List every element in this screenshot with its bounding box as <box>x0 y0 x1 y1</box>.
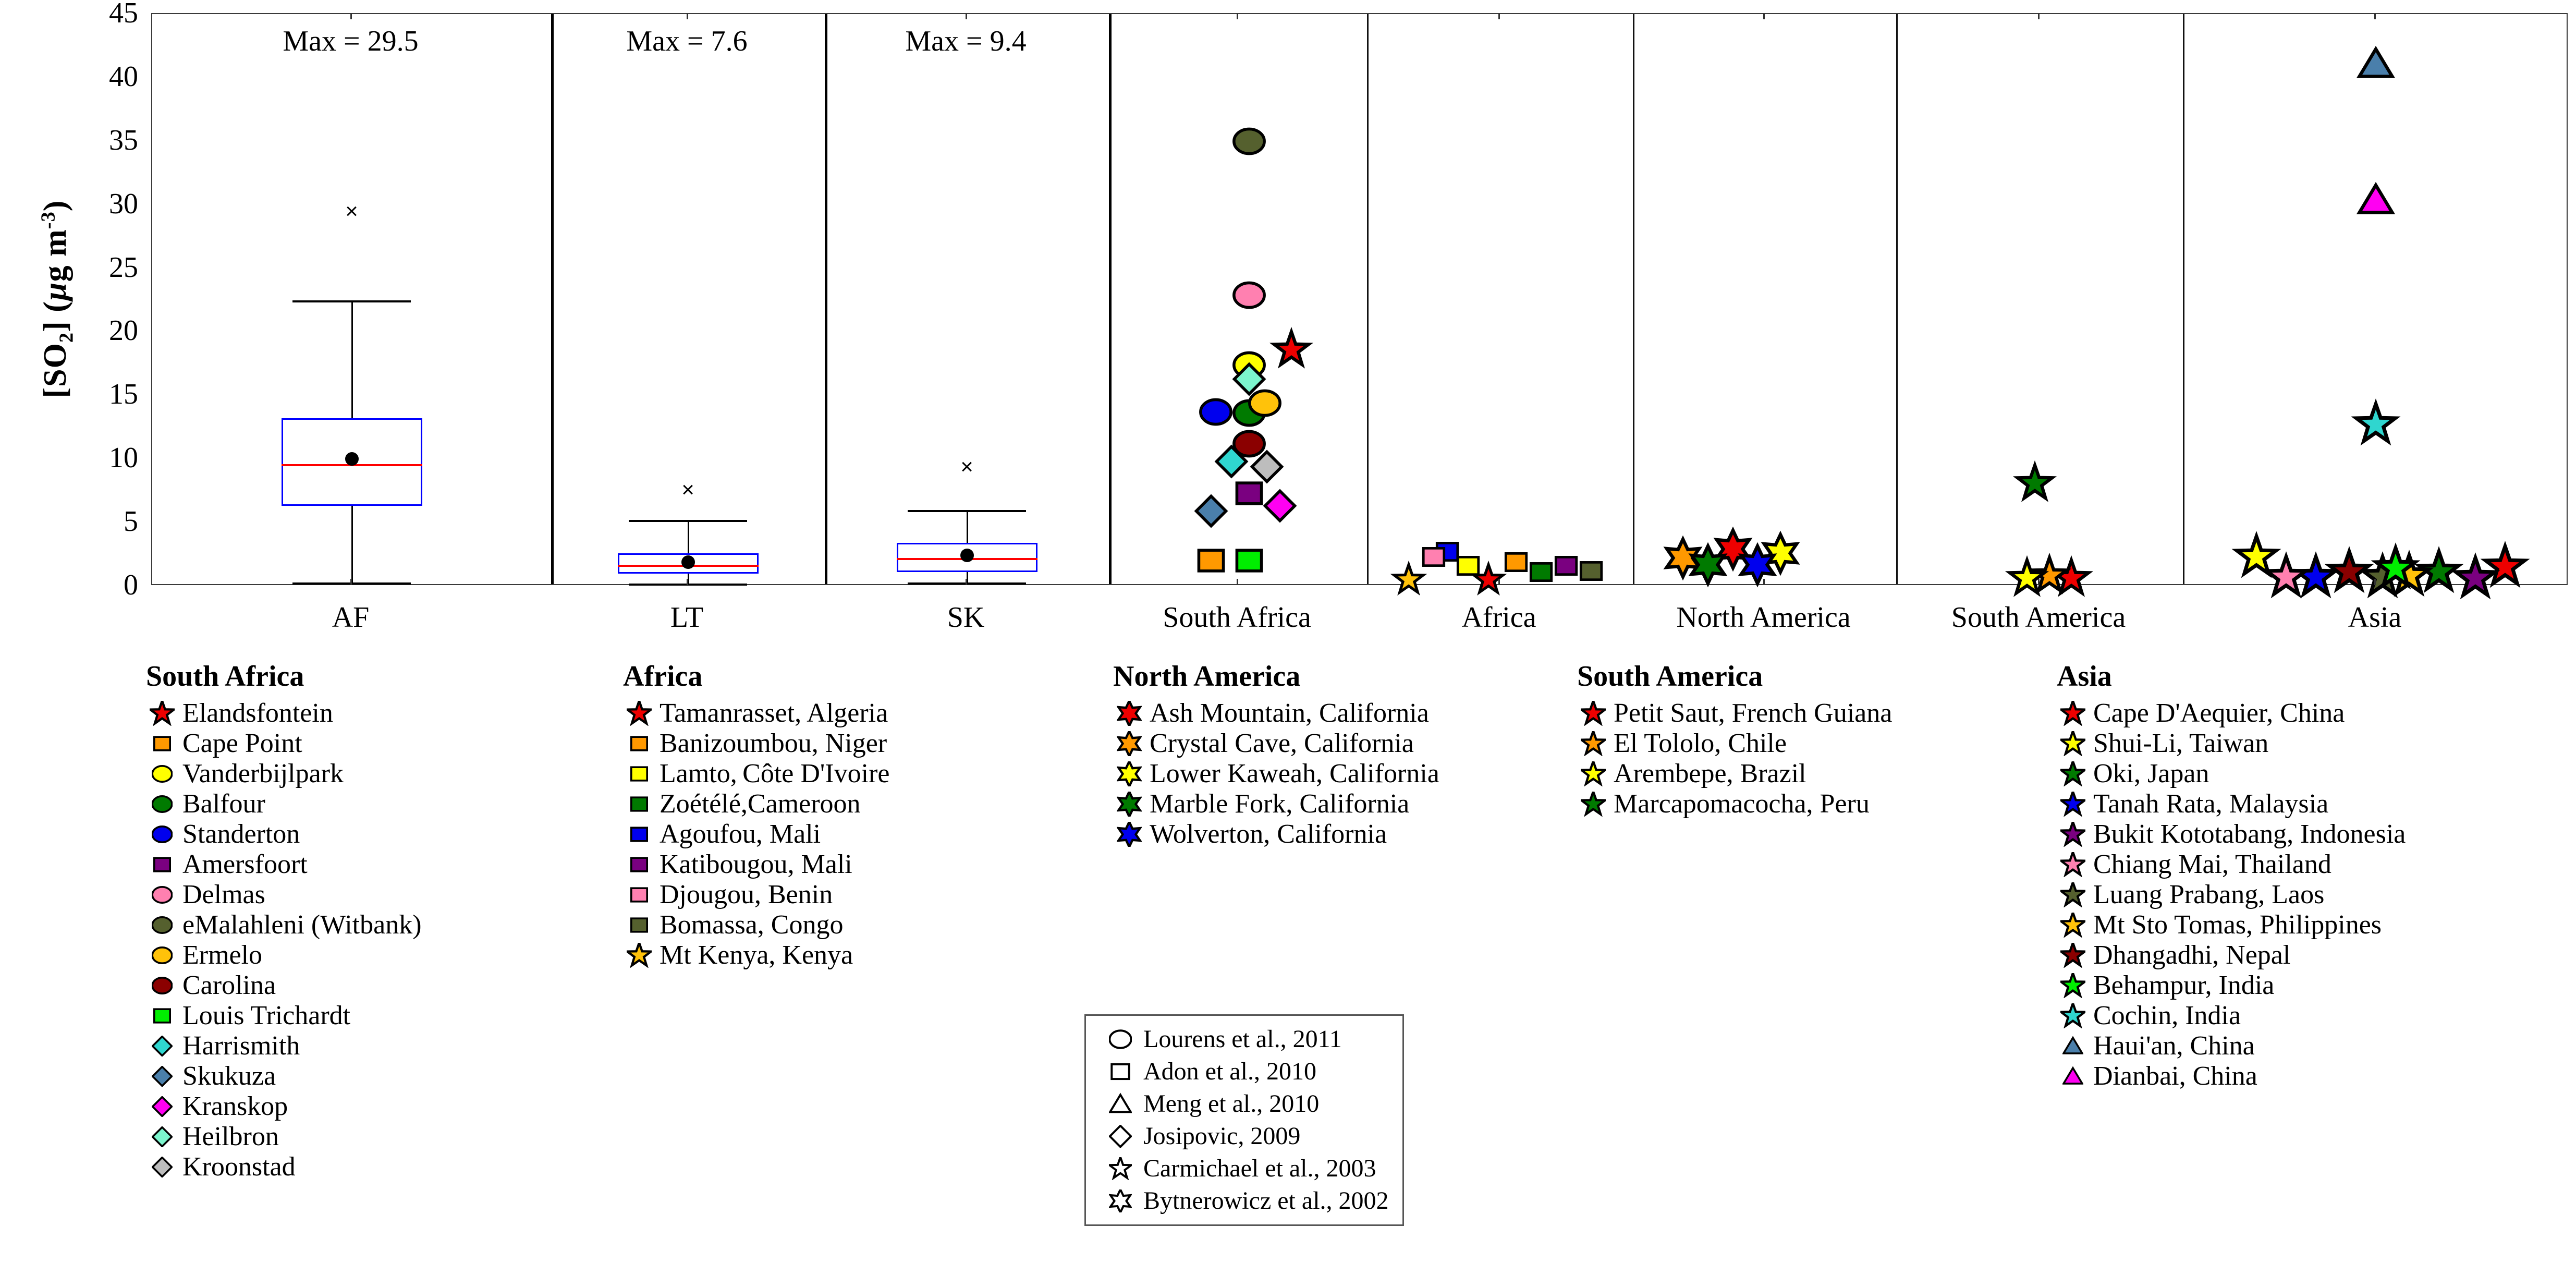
data-point-marker <box>1273 332 1309 368</box>
x-axis-label-south-africa: South Africa <box>1163 601 1311 634</box>
y-tick-label: 15 <box>60 380 138 409</box>
data-point-marker <box>1578 557 1605 585</box>
legend-item[interactable]: Djougou, Benin <box>623 880 889 910</box>
legend-title: North America <box>1113 660 1439 693</box>
star6-icon <box>1113 822 1145 847</box>
data-point-marker <box>2017 465 2053 501</box>
legend-item-label: Delmas <box>182 881 265 908</box>
legend-title: South America <box>1577 660 1892 693</box>
legend-item[interactable]: Heilbron <box>146 1122 422 1152</box>
legend-item[interactable]: Amersfoort <box>146 849 422 880</box>
legend-item-label: Heilbron <box>182 1123 279 1150</box>
legend-item[interactable]: Luang Prabang, Laos <box>2057 880 2406 910</box>
x-tick-mark-top <box>2374 13 2376 19</box>
y-tick-label: 5 <box>60 507 138 536</box>
x-tick-mark-top <box>2038 13 2040 19</box>
outlier-marker: × <box>960 456 973 478</box>
legend-item[interactable]: eMalahleni (Witbank) <box>146 910 422 940</box>
legend-item-label: Wolverton, California <box>1150 821 1387 848</box>
reference-legend-item[interactable]: Adon et al., 2010 <box>1102 1055 1389 1088</box>
mean-marker <box>960 549 974 562</box>
star5-icon <box>1577 701 1609 726</box>
square-icon <box>623 794 655 815</box>
x-axis-label-lt: LT <box>670 601 703 634</box>
data-point-marker <box>1215 445 1248 478</box>
data-point-marker <box>2455 558 2496 599</box>
data-point-marker <box>1251 451 1283 483</box>
data-point-marker <box>1503 549 1530 576</box>
star5-icon <box>623 943 655 968</box>
legend-item[interactable]: Marcapomacocha, Peru <box>1577 789 1892 819</box>
star5-icon <box>1102 1157 1139 1180</box>
data-point-marker <box>1233 279 1265 311</box>
diamond-icon <box>146 1126 178 1147</box>
diamond-icon <box>146 1096 178 1117</box>
so2-concentration-figure: [SO2] (µg m-3)051015202530354045×××AFLTS… <box>0 0 2576 1287</box>
legend-item-label: Bomassa, Congo <box>660 912 843 939</box>
legend-title: Africa <box>623 660 889 693</box>
legend-item-label: Cochin, India <box>2093 1002 2241 1029</box>
reference-legend-item[interactable]: Lourens et al., 2011 <box>1102 1023 1389 1055</box>
legend-item[interactable]: Delmas <box>146 880 422 910</box>
legend-item[interactable]: Agoufou, Mali <box>623 819 889 849</box>
legend-item-label: Arembepe, Brazil <box>1614 760 1806 787</box>
max-annotation: Max = 9.4 <box>905 25 1026 58</box>
circle-icon <box>146 945 178 966</box>
data-point-marker <box>1233 125 1265 157</box>
legend-item[interactable]: Cape D'Aequier, China <box>2057 698 2406 729</box>
legend-item-label: Oki, Japan <box>2093 760 2209 787</box>
data-point-marker <box>1420 543 1447 570</box>
legend-item-label: Ermelo <box>182 942 262 969</box>
x-axis-label-africa: Africa <box>1461 601 1536 634</box>
legend-item-label: Lower Kaweah, California <box>1150 760 1439 787</box>
x-tick-mark <box>2374 579 2376 585</box>
square-icon <box>623 824 655 845</box>
star5-icon <box>2057 822 2089 847</box>
legend-item[interactable]: Haui'an, China <box>2057 1031 2406 1061</box>
legend-column-south-africa: South AfricaElandsfonteinCape PointVande… <box>146 660 422 1182</box>
legend-item[interactable]: Ash Mountain, California <box>1113 698 1439 729</box>
legend-item-label: Marcapomacocha, Peru <box>1614 791 1870 818</box>
legend-item-label: Katibougou, Mali <box>660 851 852 878</box>
legend-item[interactable]: Cochin, India <box>2057 1001 2406 1031</box>
x-axis-label-sk: SK <box>947 601 985 634</box>
legend-item-label: Bukit Kototabang, Indonesia <box>2093 821 2406 848</box>
legend-item-label: Elandsfontein <box>182 700 333 727</box>
x-axis-label-south-america: South America <box>1951 601 2126 634</box>
legend-item-label: Behampur, India <box>2093 972 2274 999</box>
legend-item[interactable]: Cape Point <box>146 729 422 759</box>
reference-legend-item[interactable]: Meng et al., 2010 <box>1102 1088 1389 1120</box>
star5-icon <box>2057 852 2089 877</box>
legend-title: Asia <box>2057 660 2406 693</box>
legend-item-label: Tamanrasset, Algeria <box>660 700 888 727</box>
square-icon <box>1102 1060 1139 1083</box>
star6-icon <box>1113 731 1145 756</box>
star5-icon <box>2057 1003 2089 1028</box>
legend-item-label: Luang Prabang, Laos <box>2093 881 2324 908</box>
triangle-icon <box>2057 1036 2089 1057</box>
x-tick-mark <box>687 579 688 585</box>
x-axis-label-north-america: North America <box>1676 601 1850 634</box>
plot-area: ××× <box>151 13 2568 585</box>
whisker-upper <box>967 510 968 543</box>
x-axis-label-asia: Asia <box>2348 601 2402 634</box>
legend-item[interactable]: Petit Saut, French Guiana <box>1577 698 1892 729</box>
legend-item[interactable]: Carolina <box>146 970 422 1001</box>
legend-item-label: Harrismith <box>182 1033 300 1060</box>
legend-item[interactable]: Oki, Japan <box>2057 759 2406 789</box>
y-tick-label: 40 <box>60 62 138 91</box>
data-point-marker <box>1200 396 1232 428</box>
legend-item[interactable]: Zoétélé,Cameroon <box>623 789 889 819</box>
data-point-marker <box>1264 490 1296 522</box>
legend-column-north-america: North AmericaAsh Mountain, CaliforniaCry… <box>1113 660 1439 849</box>
circle-icon <box>1102 1028 1139 1051</box>
legend-item-label: Kroonstad <box>182 1154 296 1181</box>
circle-icon <box>146 884 178 905</box>
star5-icon <box>2057 761 2089 786</box>
legend-item-label: Cape D'Aequier, China <box>2093 700 2345 727</box>
x-tick-mark-top <box>687 13 688 19</box>
square-icon <box>146 854 178 875</box>
circle-icon <box>146 763 178 784</box>
legend-item-label: Dianbai, China <box>2093 1063 2257 1090</box>
y-tick-label: 10 <box>60 443 138 472</box>
legend-item-label: Vanderbijlpark <box>182 760 344 787</box>
star5-icon <box>2057 701 2089 726</box>
square-icon <box>623 733 655 754</box>
reference-legend-label: Meng et al., 2010 <box>1143 1091 1319 1116</box>
reference-legend-item[interactable]: Josipovic, 2009 <box>1102 1120 1389 1152</box>
legend-item-label: Kranskop <box>182 1093 288 1120</box>
legend-column-south-america: South AmericaPetit Saut, French GuianaEl… <box>1577 660 1892 819</box>
y-tick-label: 45 <box>60 0 138 28</box>
legend-item-label: El Tololo, Chile <box>1614 730 1787 757</box>
y-tick-label: 0 <box>60 570 138 600</box>
legend-item-label: Chiang Mai, Thailand <box>2093 851 2331 878</box>
star6-icon <box>1102 1189 1139 1212</box>
legend-item-label: Skukuza <box>182 1063 276 1090</box>
legend-item[interactable]: Lamto, Côte D'Ivoire <box>623 759 889 789</box>
data-point-marker <box>1233 363 1265 395</box>
legend-item[interactable]: Banizoumbou, Niger <box>623 729 889 759</box>
x-tick-mark-top <box>966 13 967 19</box>
data-point-marker <box>1689 546 1727 584</box>
data-point-marker <box>1739 546 1777 584</box>
legend-item[interactable]: Vanderbijlpark <box>146 759 422 789</box>
legend-item-label: Marble Fork, California <box>1150 791 1409 818</box>
legend-item[interactable]: Wolverton, California <box>1113 819 1439 849</box>
legend-item-label: Balfour <box>182 791 265 818</box>
legend-item[interactable]: Skukuza <box>146 1061 422 1091</box>
data-point-marker <box>2355 404 2396 445</box>
star5-icon <box>146 701 178 726</box>
star5-icon <box>2057 731 2089 756</box>
diamond-icon <box>146 1066 178 1087</box>
reference-legend-label: Carmichael et al., 2003 <box>1143 1156 1376 1181</box>
star5-icon <box>2057 943 2089 968</box>
reference-legend-item[interactable]: Carmichael et al., 2003 <box>1102 1152 1389 1185</box>
legend-item[interactable]: Dhangadhi, Nepal <box>2057 940 2406 970</box>
legend-item-label: Zoétélé,Cameroon <box>660 791 861 818</box>
y-tick-label: 35 <box>60 126 138 155</box>
star6-icon <box>1113 701 1145 726</box>
circle-icon <box>146 915 178 936</box>
x-tick-mark <box>1498 579 1500 585</box>
legend-item[interactable]: Dianbai, China <box>2057 1061 2406 1091</box>
legend-item[interactable]: Arembepe, Brazil <box>1577 759 1892 789</box>
legend-item-label: Ash Mountain, California <box>1150 700 1429 727</box>
legend-item-label: Mt Kenya, Kenya <box>660 942 853 969</box>
diamond-icon <box>146 1036 178 1057</box>
data-point-marker <box>1195 495 1227 527</box>
star5-icon <box>623 701 655 726</box>
legend-item[interactable]: Lower Kaweah, California <box>1113 759 1439 789</box>
x-tick-mark <box>966 579 967 585</box>
reference-legend-label: Bytnerowicz et al., 2002 <box>1143 1188 1389 1213</box>
legend-item[interactable]: Ermelo <box>146 940 422 970</box>
y-tick-label: 20 <box>60 316 138 345</box>
legend-item[interactable]: Balfour <box>146 789 422 819</box>
legend-item-label: eMalahleni (Witbank) <box>182 912 422 939</box>
data-point-marker <box>1393 565 1423 595</box>
legend-item[interactable]: Chiang Mai, Thailand <box>2057 849 2406 880</box>
star5-icon <box>2057 792 2089 817</box>
legend-item[interactable]: Marble Fork, California <box>1113 789 1439 819</box>
legend-item[interactable]: Kranskop <box>146 1091 422 1122</box>
data-point-marker <box>1233 544 1265 577</box>
data-point-marker <box>2329 552 2370 592</box>
data-point-marker <box>2358 181 2394 218</box>
data-point-marker <box>2358 45 2394 82</box>
square-icon <box>623 854 655 875</box>
legend-item[interactable]: Shui-Li, Taiwan <box>2057 729 2406 759</box>
legend-column-africa: AfricaTamanrasset, AlgeriaBanizoumbou, N… <box>623 660 889 970</box>
data-point-marker <box>2375 548 2416 589</box>
x-axis-label-af: AF <box>332 601 370 634</box>
legend-item[interactable]: Elandsfontein <box>146 698 422 729</box>
star6-icon <box>1113 761 1145 786</box>
legend-item[interactable]: Crystal Cave, California <box>1113 729 1439 759</box>
max-annotation: Max = 29.5 <box>283 25 418 58</box>
data-point-marker <box>1528 558 1555 586</box>
legend-item[interactable]: El Tololo, Chile <box>1577 729 1892 759</box>
legend-item-label: Petit Saut, French Guiana <box>1614 700 1892 727</box>
square-icon <box>146 1005 178 1026</box>
data-point-marker <box>1553 552 1580 579</box>
legend-item-label: Djougou, Benin <box>660 881 833 908</box>
legend-item-label: Tanah Rata, Malaysia <box>2093 791 2328 818</box>
reference-legend-label: Josipovic, 2009 <box>1143 1124 1300 1149</box>
legend-item-label: Crystal Cave, California <box>1150 730 1414 757</box>
legend-item[interactable]: Tamanrasset, Algeria <box>623 698 889 729</box>
star5-icon <box>2057 913 2089 938</box>
data-point-marker <box>1195 544 1227 577</box>
boxplot-SK: × <box>152 14 2567 584</box>
x-tick-mark <box>350 579 352 585</box>
x-tick-mark <box>1237 579 1238 585</box>
cap-upper <box>908 510 1026 512</box>
legend-item-label: Standerton <box>182 821 300 848</box>
star6-icon <box>1113 792 1145 817</box>
reference-legend-box: Lourens et al., 2011Adon et al., 2010Men… <box>1084 1014 1404 1226</box>
square-icon <box>623 884 655 905</box>
x-tick-mark-top <box>350 13 352 19</box>
legend-item-label: Banizoumbou, Niger <box>660 730 887 757</box>
triangle-icon <box>2057 1066 2089 1087</box>
legend-item-label: Mt Sto Tomas, Philippines <box>2093 912 2382 939</box>
circle-icon <box>146 794 178 815</box>
legend-item[interactable]: Harrismith <box>146 1031 422 1061</box>
legend-item-label: Amersfoort <box>182 851 308 878</box>
circle-icon <box>146 824 178 845</box>
legend-item[interactable]: Kroonstad <box>146 1152 422 1182</box>
legend-item-label: Carolina <box>182 972 276 999</box>
legend-item[interactable]: Standerton <box>146 819 422 849</box>
legend-item-label: Agoufou, Mali <box>660 821 821 848</box>
data-point-marker <box>2009 561 2045 597</box>
data-point-marker <box>2266 557 2306 598</box>
legend-item-label: Cape Point <box>182 730 302 757</box>
star5-icon <box>1577 761 1609 786</box>
legend-item[interactable]: Tanah Rata, Malaysia <box>2057 789 2406 819</box>
legend-item[interactable]: Behampur, India <box>2057 970 2406 1001</box>
legend-item-label: Shui-Li, Taiwan <box>2093 730 2268 757</box>
square-icon <box>623 915 655 936</box>
star5-icon <box>1577 731 1609 756</box>
legend-column-asia: AsiaCape D'Aequier, ChinaShui-Li, Taiwan… <box>2057 660 2406 1091</box>
legend-item[interactable]: Mt Sto Tomas, Philippines <box>2057 910 2406 940</box>
x-tick-mark-top <box>1237 13 1238 19</box>
diamond-icon <box>146 1157 178 1177</box>
legend-item[interactable]: Louis Trichardt <box>146 1001 422 1031</box>
legend-item[interactable]: Bomassa, Congo <box>623 910 889 940</box>
reference-legend-label: Lourens et al., 2011 <box>1143 1027 1342 1052</box>
square-icon <box>623 763 655 784</box>
legend-item[interactable]: Mt Kenya, Kenya <box>623 940 889 970</box>
star5-icon <box>1577 792 1609 817</box>
star5-icon <box>2057 973 2089 998</box>
legend-item[interactable]: Bukit Kototabang, Indonesia <box>2057 819 2406 849</box>
x-tick-mark-top <box>1763 13 1765 19</box>
legend-item-label: Haui'an, China <box>2093 1033 2255 1060</box>
legend-item-label: Lamto, Côte D'Ivoire <box>660 760 889 787</box>
square-icon <box>146 733 178 754</box>
reference-legend-item[interactable]: Bytnerowicz et al., 2002 <box>1102 1185 1389 1217</box>
reference-legend-label: Adon et al., 2010 <box>1143 1059 1316 1084</box>
triangle-icon <box>1102 1092 1139 1115</box>
x-tick-mark-top <box>1498 13 1500 19</box>
y-tick-label: 25 <box>60 253 138 282</box>
legend-title: South Africa <box>146 660 422 693</box>
x-tick-mark <box>1763 579 1765 585</box>
legend-item[interactable]: Katibougou, Mali <box>623 849 889 880</box>
circle-icon <box>146 975 178 996</box>
legend-item-label: Louis Trichardt <box>182 1002 350 1029</box>
legend-item-label: Dhangadhi, Nepal <box>2093 942 2290 969</box>
max-annotation: Max = 7.6 <box>626 25 747 58</box>
y-tick-label: 30 <box>60 189 138 218</box>
star5-icon <box>2057 882 2089 907</box>
x-tick-mark <box>2038 579 2040 585</box>
diamond-icon <box>1102 1125 1139 1148</box>
